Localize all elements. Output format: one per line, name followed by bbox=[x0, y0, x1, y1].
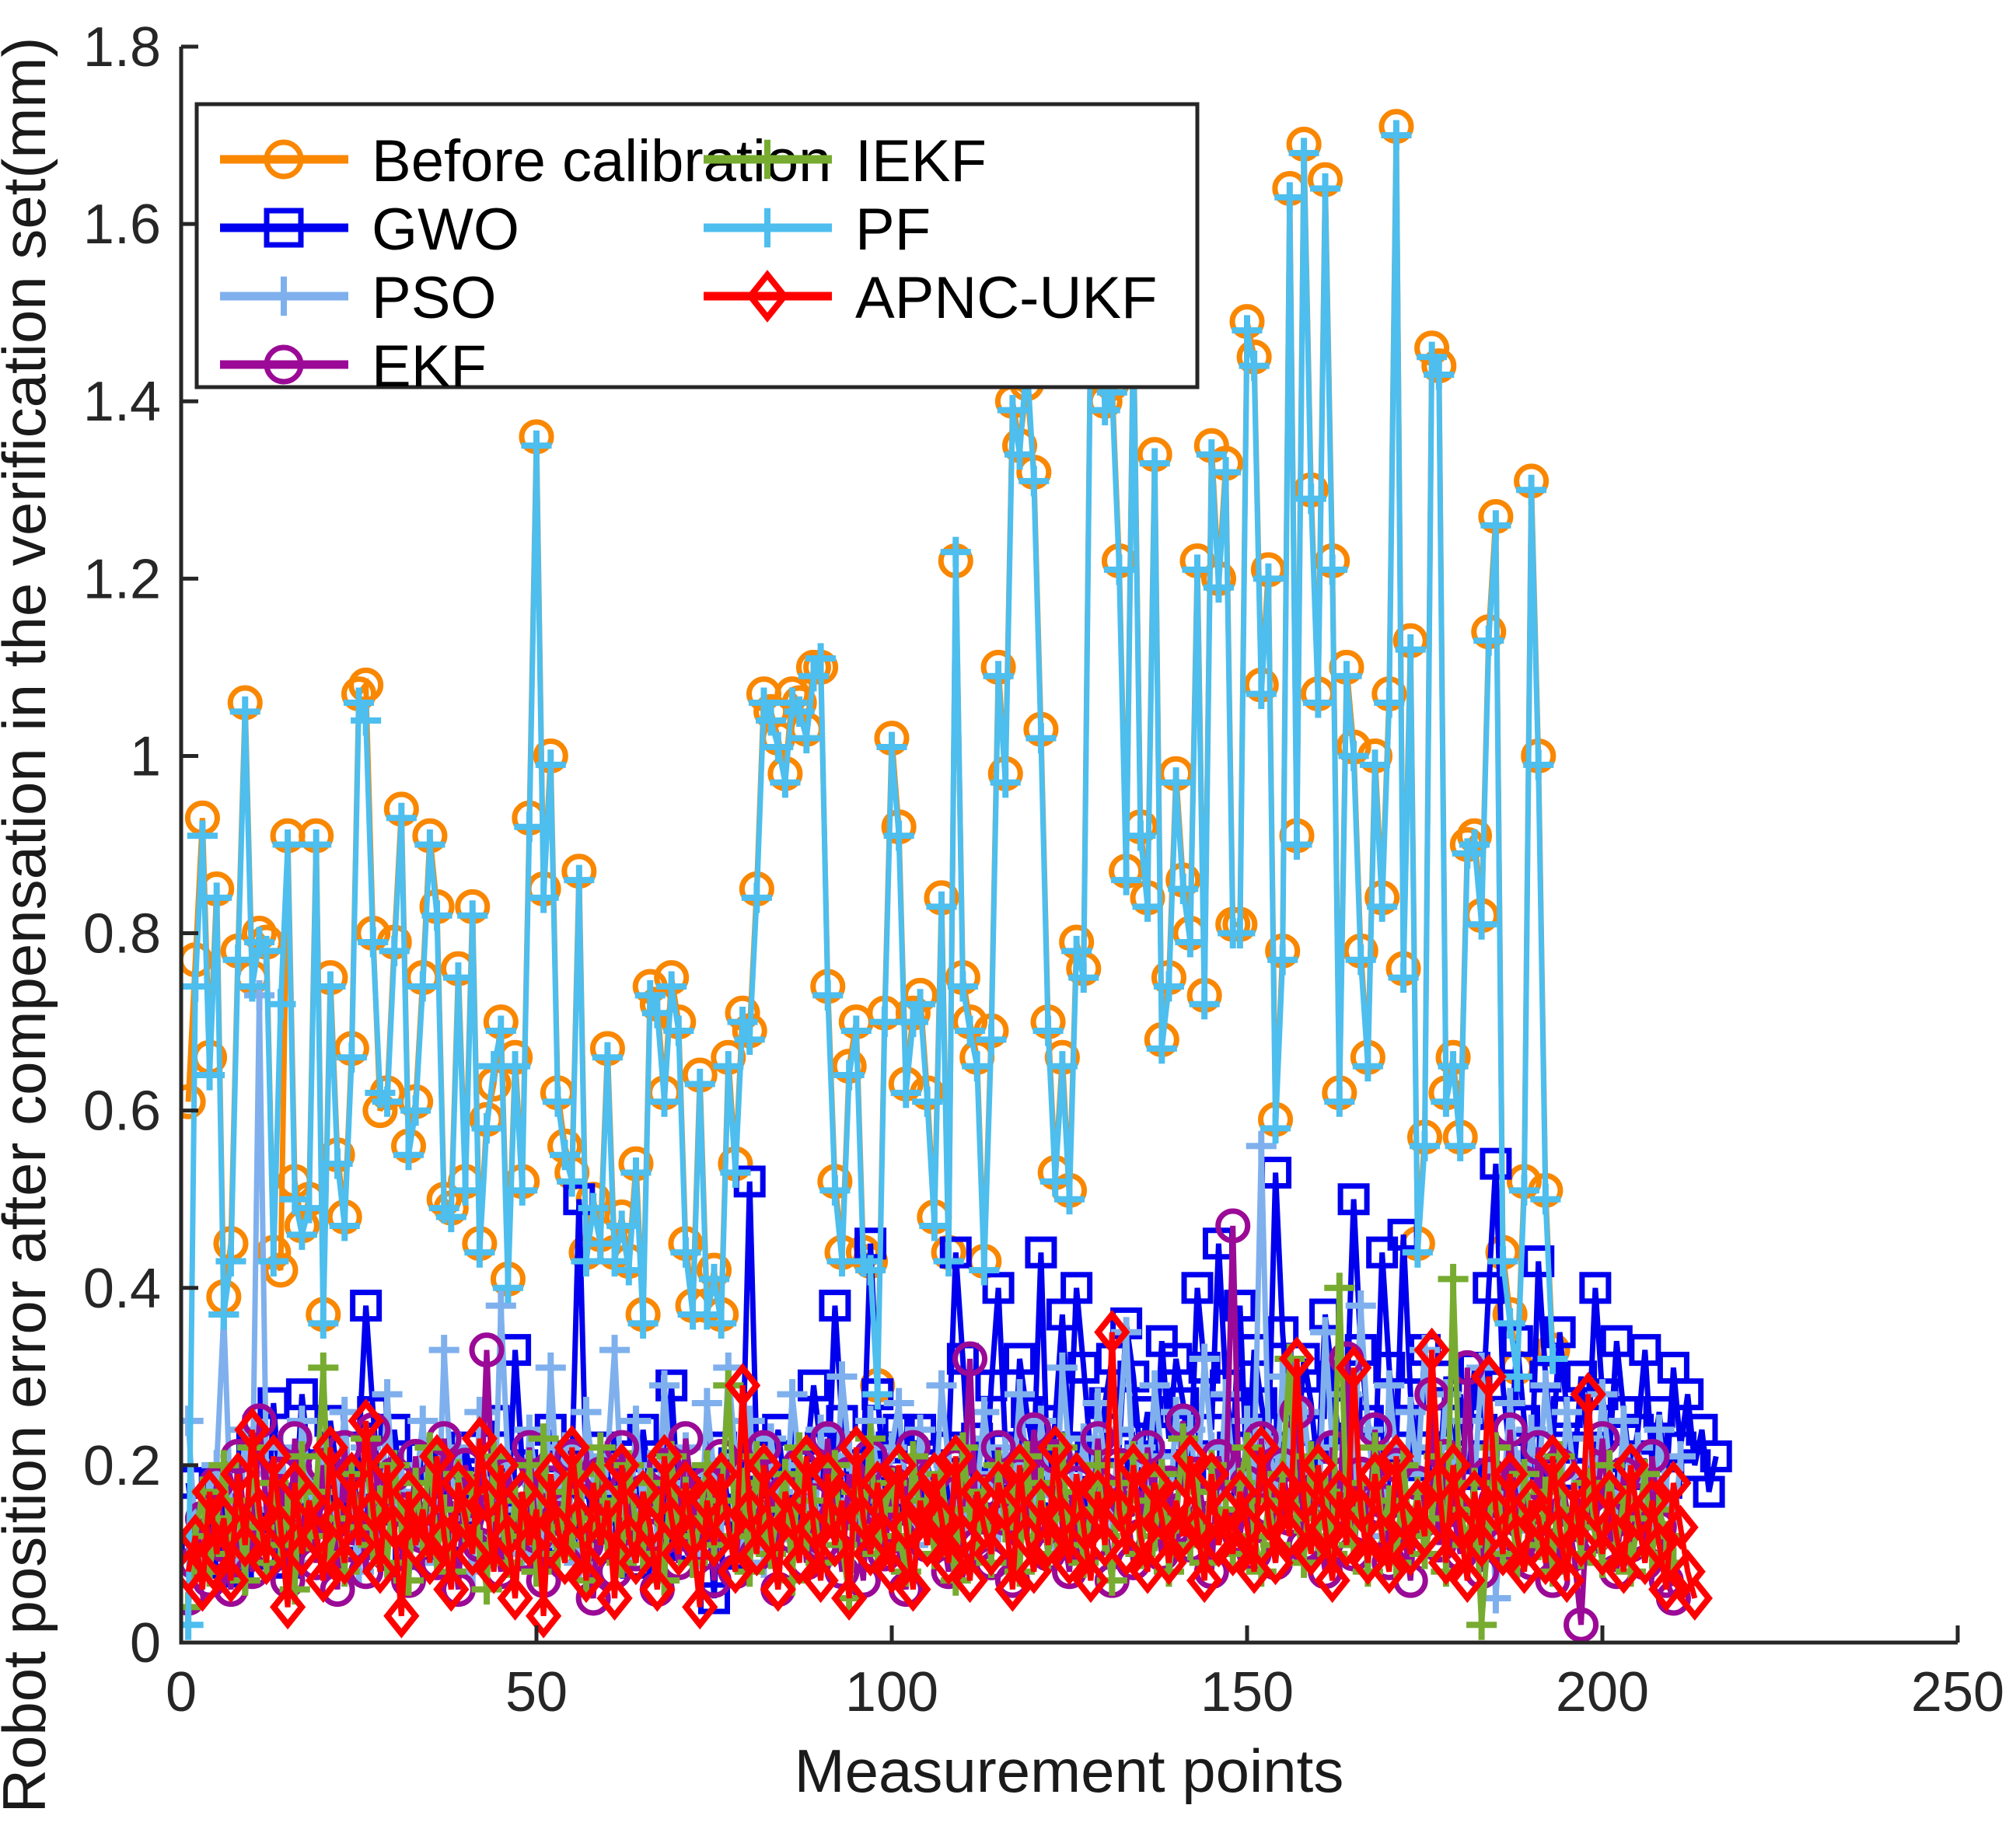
y-tick-label: 0.2 bbox=[83, 1435, 161, 1497]
y-tick-label: 0.4 bbox=[83, 1258, 161, 1320]
legend-label: IEKF bbox=[855, 128, 987, 194]
y-tick-label: 1.4 bbox=[83, 371, 161, 433]
chart-legend[interactable]: Before calibrationIEKFGWOPFPSOAPNC-UKFEK… bbox=[197, 104, 1197, 400]
y-tick-label: 0.6 bbox=[83, 1081, 161, 1143]
chart-figure: 00.20.40.60.811.21.41.61.805010015020025… bbox=[0, 0, 2016, 1826]
y-tick-label: 1.6 bbox=[83, 194, 161, 256]
x-tick-label: 250 bbox=[1911, 1661, 2004, 1723]
x-tick-label: 150 bbox=[1200, 1661, 1294, 1723]
legend-label: APNC-UKF bbox=[855, 265, 1157, 331]
legend-label: GWO bbox=[372, 197, 519, 263]
x-tick-label: 100 bbox=[845, 1661, 938, 1723]
legend-label: EKF bbox=[372, 333, 487, 400]
x-tick-label: 200 bbox=[1556, 1661, 1649, 1723]
legend-label: PF bbox=[855, 197, 931, 263]
x-axis-title: Measurement points bbox=[795, 1737, 1344, 1805]
x-tick-label: 50 bbox=[505, 1661, 568, 1723]
line-chart: 00.20.40.60.811.21.41.61.805010015020025… bbox=[0, 0, 2016, 1826]
y-tick-label: 0.8 bbox=[83, 903, 161, 965]
legend-label: PSO bbox=[372, 265, 497, 331]
y-tick-label: 0 bbox=[130, 1612, 161, 1674]
y-axis-title: Robot position error after compensation … bbox=[0, 37, 58, 1814]
y-tick-label: 1 bbox=[130, 725, 161, 787]
y-tick-label: 1.8 bbox=[83, 16, 161, 79]
x-tick-label: 0 bbox=[166, 1661, 197, 1723]
y-tick-label: 1.2 bbox=[83, 548, 161, 610]
